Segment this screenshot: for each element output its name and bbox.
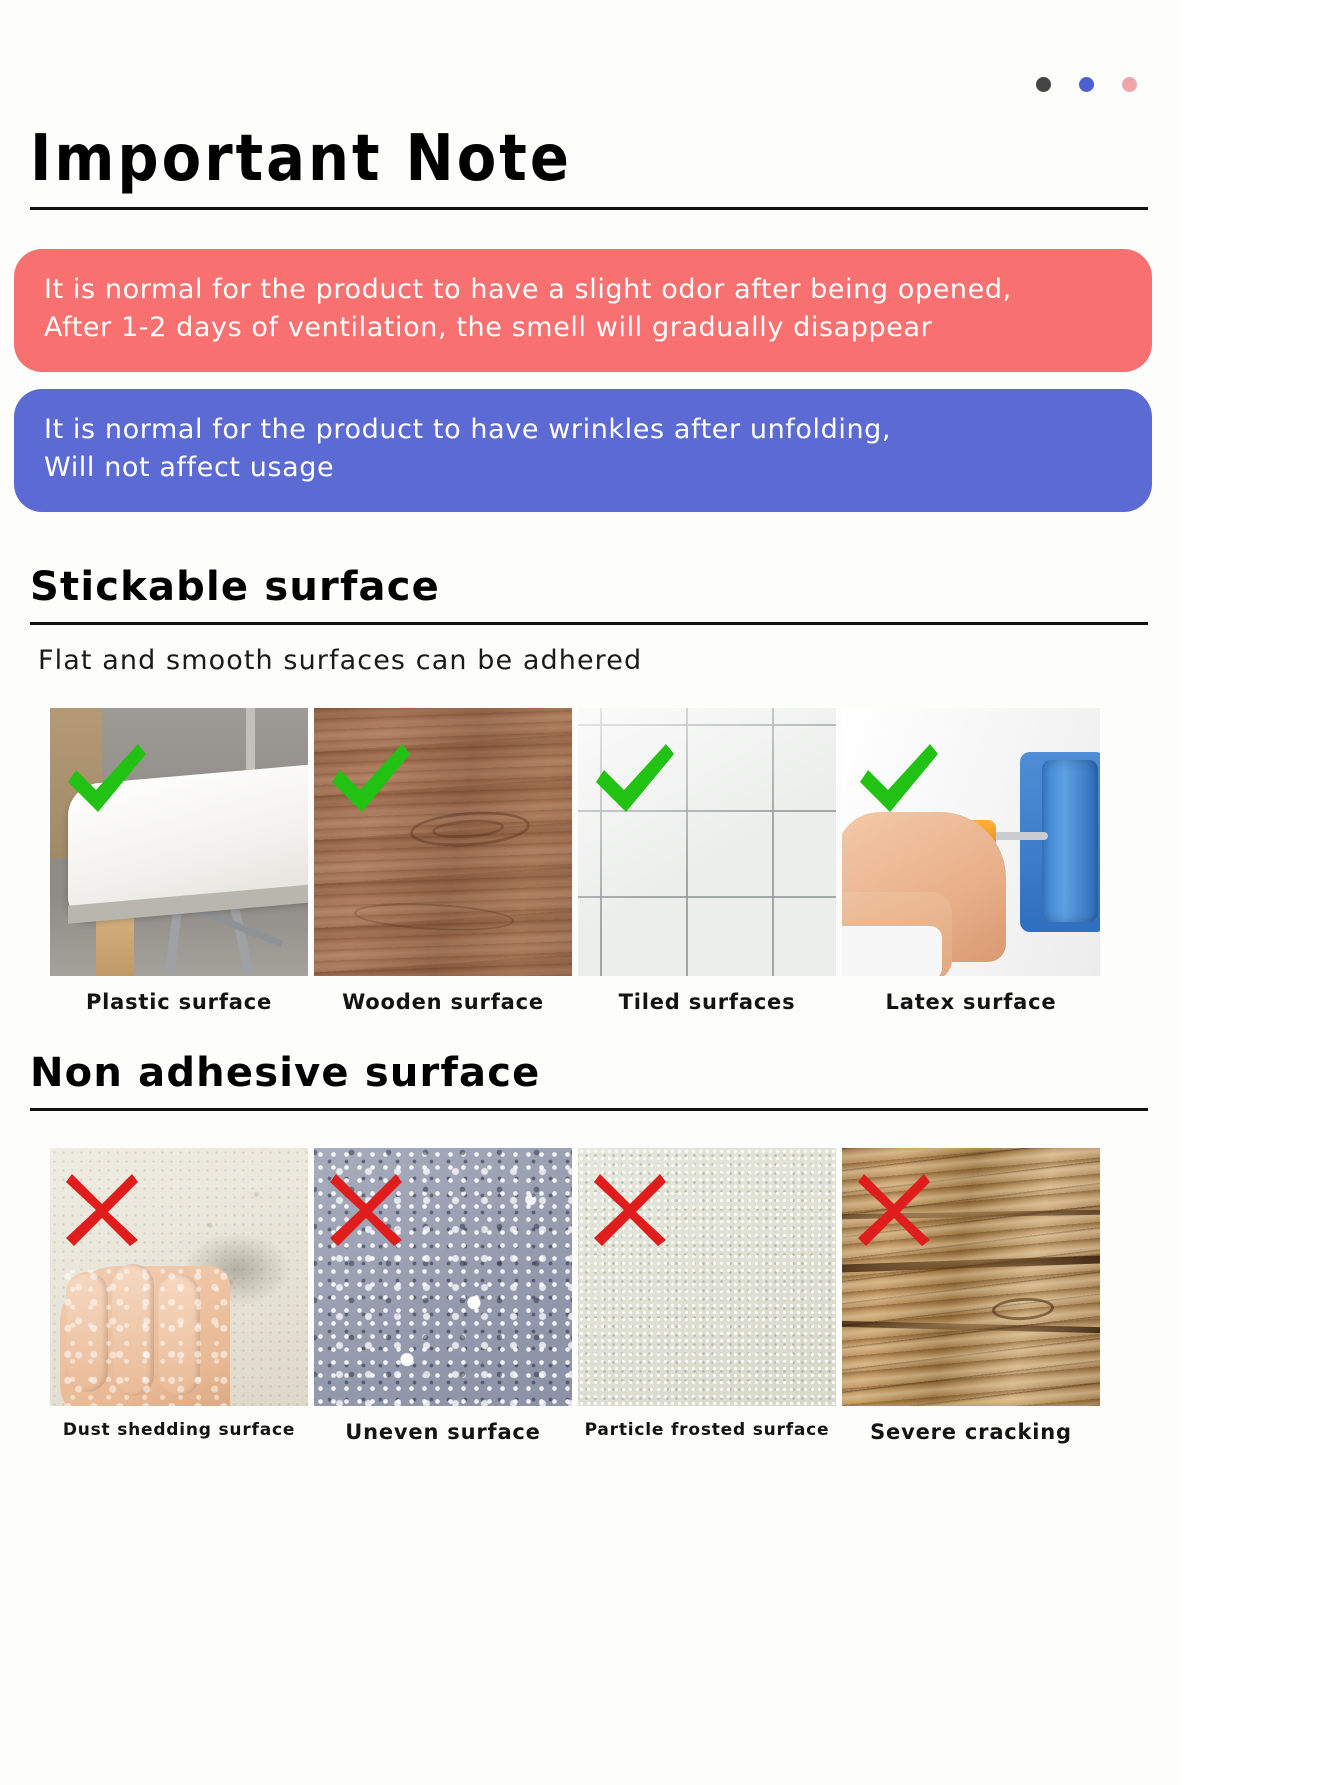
paint-roller-photo bbox=[842, 708, 1100, 976]
stickable-image-grid: Plastic surface Wooden surface Tiled sur… bbox=[50, 708, 1100, 1014]
stickable-heading: Stickable surface bbox=[30, 564, 1150, 610]
dot-blue-icon bbox=[1079, 77, 1094, 92]
color-swatch-dots bbox=[1036, 77, 1137, 92]
non-adhesive-section-header: Non adhesive surface bbox=[30, 1050, 1150, 1111]
stickable-item-wooden: Wooden surface bbox=[314, 708, 572, 1014]
odor-notice-line-1: It is normal for the product to have a s… bbox=[44, 271, 1122, 309]
product-info-page: Important Note It is normal for the prod… bbox=[0, 0, 1180, 1785]
cross-mark-icon bbox=[858, 1174, 930, 1246]
white-tile-wall-photo bbox=[578, 708, 836, 976]
stickable-divider bbox=[30, 622, 1148, 625]
wooden-plank-photo bbox=[314, 708, 572, 976]
wrinkle-notice-line-2: Will not affect usage bbox=[44, 449, 1122, 487]
non-adhesive-item-particle: Particle frosted surface bbox=[578, 1148, 836, 1444]
caption-wooden-surface: Wooden surface bbox=[314, 990, 572, 1014]
caption-uneven-surface: Uneven surface bbox=[314, 1420, 572, 1444]
page-title: Important Note bbox=[30, 126, 1150, 193]
non-adhesive-image-grid: Dust shedding surface Uneven surface Par… bbox=[50, 1148, 1100, 1444]
non-adhesive-item-dust: Dust shedding surface bbox=[50, 1148, 308, 1444]
cracked-wood-photo bbox=[842, 1148, 1100, 1406]
caption-particle-frosted-surface: Particle frosted surface bbox=[578, 1420, 836, 1440]
wrinkle-notice-banner: It is normal for the product to have wri… bbox=[14, 389, 1152, 512]
non-adhesive-divider bbox=[30, 1108, 1148, 1111]
dot-pink-icon bbox=[1122, 77, 1137, 92]
non-adhesive-item-cracking: Severe cracking bbox=[842, 1148, 1100, 1444]
stickable-item-tiled: Tiled surfaces bbox=[578, 708, 836, 1014]
stickable-subtitle: Flat and smooth surfaces can be adhered bbox=[38, 645, 642, 676]
non-adhesive-heading: Non adhesive surface bbox=[30, 1050, 1150, 1096]
non-adhesive-item-uneven: Uneven surface bbox=[314, 1148, 572, 1444]
caption-latex-surface: Latex surface bbox=[842, 990, 1100, 1014]
stickable-section-header: Stickable surface bbox=[30, 564, 1150, 625]
odor-notice-banner: It is normal for the product to have a s… bbox=[14, 249, 1152, 372]
caption-dust-shedding-surface: Dust shedding surface bbox=[50, 1420, 308, 1440]
caption-tiled-surfaces: Tiled surfaces bbox=[578, 990, 836, 1014]
odor-notice-line-2: After 1-2 days of ventilation, the smell… bbox=[44, 309, 1122, 347]
page-title-block: Important Note bbox=[30, 126, 1150, 210]
plastic-table-photo bbox=[50, 708, 308, 976]
dot-dark-icon bbox=[1036, 77, 1051, 92]
wrinkle-notice-line-1: It is normal for the product to have wri… bbox=[44, 411, 1122, 449]
caption-plastic-surface: Plastic surface bbox=[50, 990, 308, 1014]
stickable-item-plastic: Plastic surface bbox=[50, 708, 308, 1014]
title-divider bbox=[30, 207, 1148, 210]
chalky-wall-hand-photo bbox=[50, 1148, 308, 1406]
check-mark-icon bbox=[328, 742, 414, 816]
frosted-particle-photo bbox=[578, 1148, 836, 1406]
caption-severe-cracking: Severe cracking bbox=[842, 1420, 1100, 1444]
stickable-item-latex: Latex surface bbox=[842, 708, 1100, 1014]
rough-stucco-photo bbox=[314, 1148, 572, 1406]
